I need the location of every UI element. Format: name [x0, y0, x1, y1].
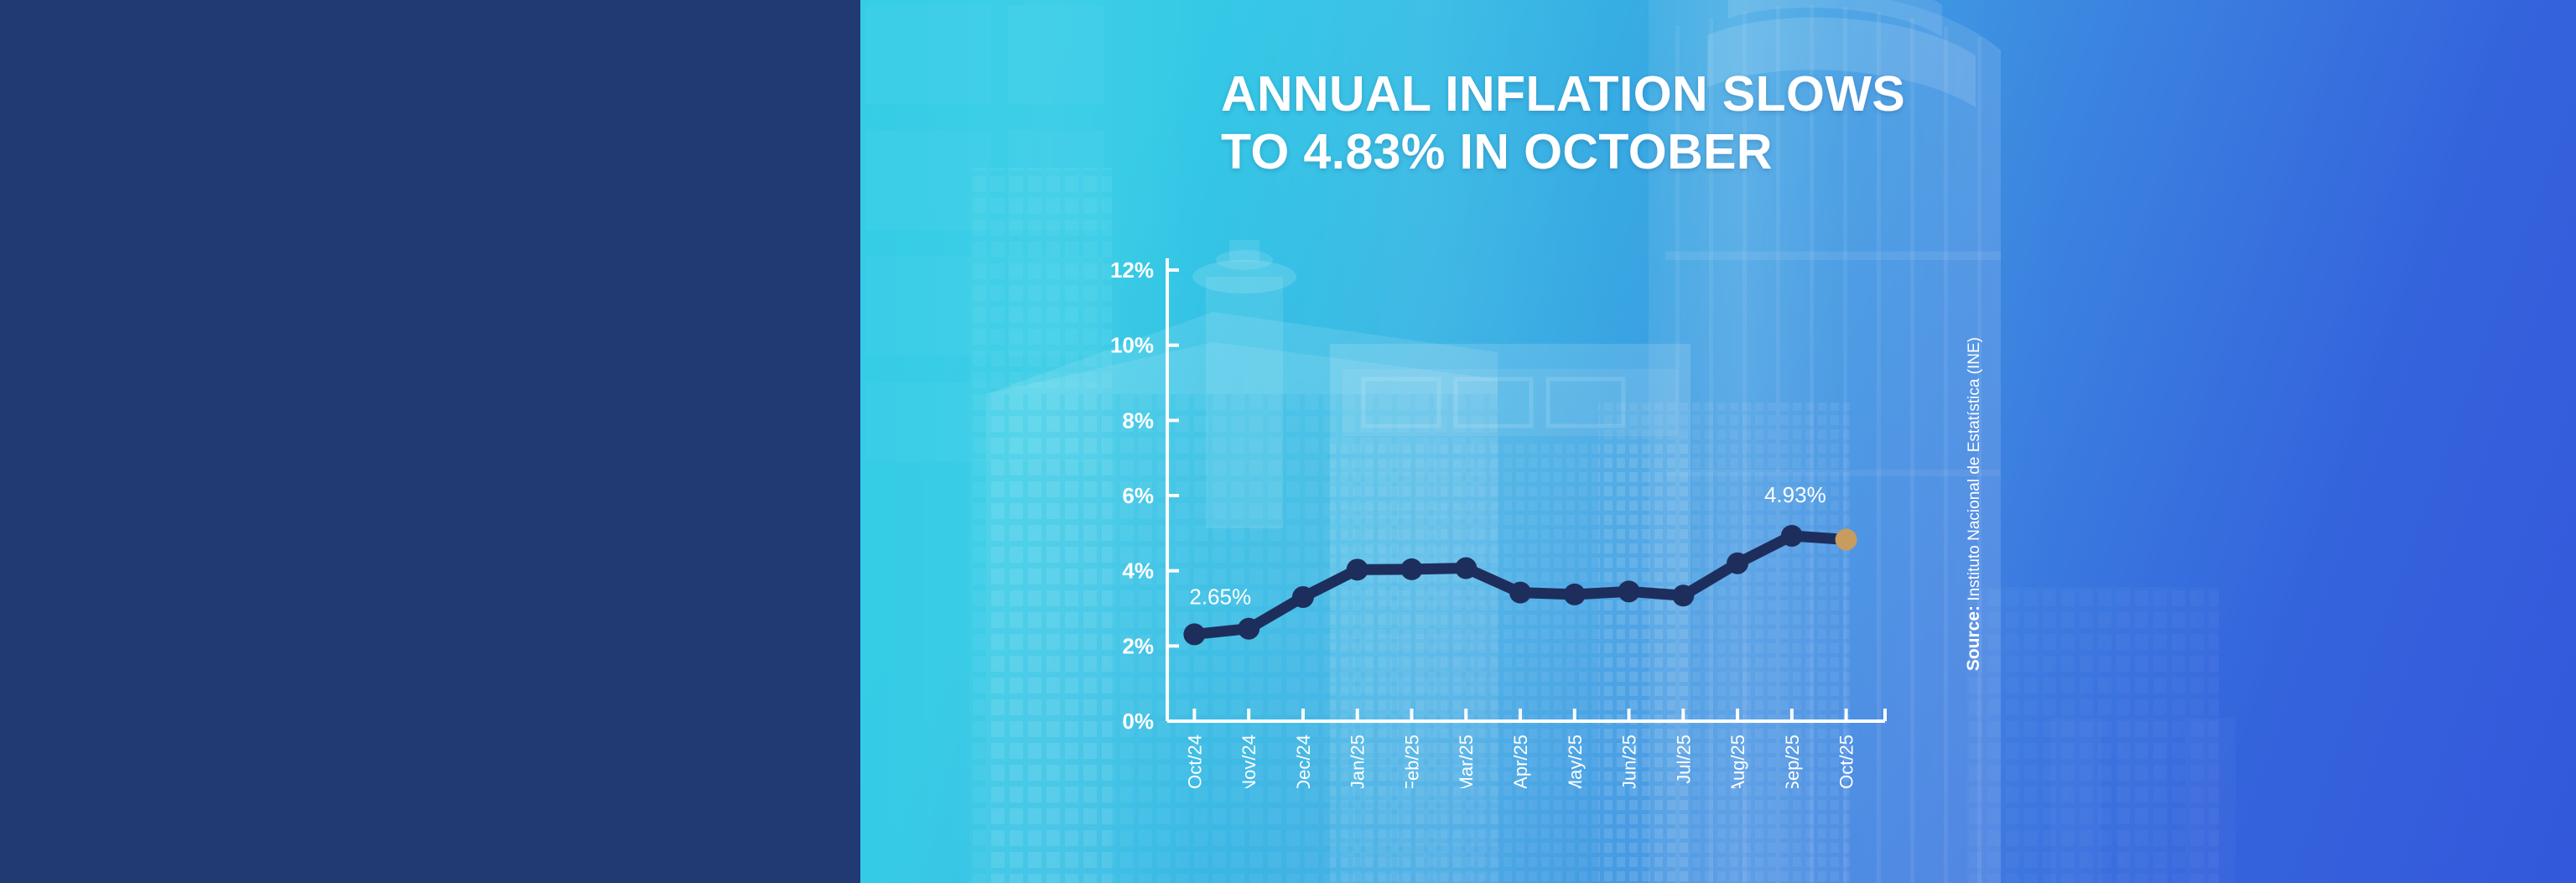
source-text: Instituto Nacional de Estatística (INE): [1966, 337, 1983, 605]
x-axis-tick-label: Oct/25: [1836, 735, 1857, 788]
x-axis-tick-label: Mar/25: [1456, 735, 1477, 788]
x-axis-tick-label: Oct/24: [1184, 735, 1205, 788]
x-axis-tick-label: Dec/24: [1293, 735, 1314, 788]
x-axis-tick-label: Jul/25: [1673, 735, 1694, 784]
data-point: [1183, 623, 1205, 645]
x-axis-tick-label: Aug/25: [1727, 735, 1748, 788]
x-axis-tick-label: Sep/25: [1782, 735, 1803, 788]
left-color-panel: [0, 0, 860, 883]
x-axis-tick-label: May/25: [1565, 735, 1586, 788]
x-axis-tick-label: Nov/24: [1239, 735, 1259, 788]
chart-svg: 0%2%4%6%8%10%12% Oct/24Nov/24Dec/24Jan/2…: [1095, 252, 1900, 788]
content-panel: ANNUAL INFLATION SLOWS TO 4.83% IN OCTOB…: [860, 0, 2576, 883]
y-axis-tick-label: 2%: [1122, 633, 1154, 658]
y-axis-tick-label: 0%: [1122, 709, 1154, 734]
data-point: [1672, 584, 1694, 606]
source-label: Source: Instituto Nacional de Estatístic…: [1964, 337, 1984, 731]
data-point: [1564, 584, 1586, 605]
title-line-2: TO 4.83% IN OCTOBER: [1221, 123, 1976, 181]
inflation-line-chart: 0%2%4%6%8%10%12% Oct/24Nov/24Dec/24Jan/2…: [1095, 252, 1900, 788]
data-point: [1400, 558, 1422, 580]
y-axis-tick-label: 4%: [1122, 558, 1154, 584]
x-axis-tick-label: Feb/25: [1401, 735, 1422, 788]
data-point: [1618, 580, 1640, 602]
x-axis: Oct/24Nov/24Dec/24Jan/25Feb/25Mar/25Apr/…: [1167, 709, 1885, 788]
x-axis-tick-label: Jan/25: [1348, 735, 1368, 788]
y-axis-tick-label: 12%: [1110, 257, 1154, 283]
page-title: ANNUAL INFLATION SLOWS TO 4.83% IN OCTOB…: [1221, 65, 1976, 181]
data-point: [1292, 586, 1314, 608]
source-prefix: Source:: [1964, 605, 1983, 671]
point-annotation: 4.93%: [1764, 482, 1826, 507]
data-point: [1727, 553, 1748, 574]
data-point: [1347, 558, 1368, 580]
x-axis-tick-label: Apr/25: [1510, 735, 1531, 788]
x-axis-tick-label: Jun/25: [1619, 735, 1640, 788]
data-point: [1781, 525, 1803, 547]
title-line-1: ANNUAL INFLATION SLOWS: [1221, 65, 1976, 123]
highlight-data-point: [1836, 528, 1857, 550]
point-annotation: 2.65%: [1189, 584, 1251, 609]
data-point: [1238, 618, 1259, 640]
y-axis-tick-label: 8%: [1122, 408, 1154, 433]
inflation-series: [1183, 525, 1857, 645]
data-point: [1455, 558, 1477, 579]
infographic-canvas: ANNUAL INFLATION SLOWS TO 4.83% IN OCTOB…: [0, 0, 2576, 883]
y-axis-tick-label: 10%: [1110, 333, 1154, 358]
data-point: [1509, 582, 1531, 604]
y-axis-tick-label: 6%: [1122, 483, 1154, 508]
y-axis: 0%2%4%6%8%10%12%: [1110, 257, 1179, 734]
